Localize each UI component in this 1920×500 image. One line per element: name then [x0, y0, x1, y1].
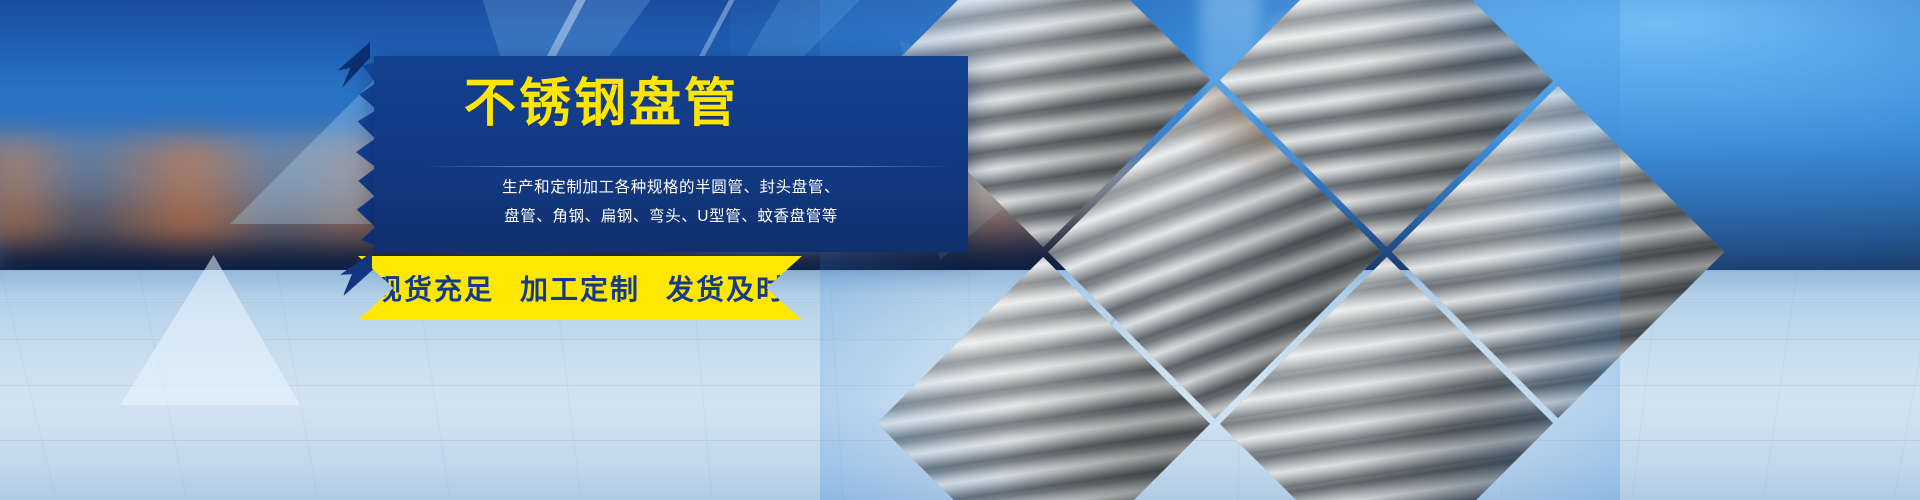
slogan-text-group: 现货充足 加工定制 发货及时: [358, 256, 802, 320]
subtitle-line-2: 盘管、角钢、扁钢、弯头、U型管、蚊香盘管等: [392, 203, 950, 232]
promo-banner: 不锈钢盘管 生产和定制加工各种规格的半圆管、封头盘管、 盘管、角钢、扁钢、弯头、…: [0, 0, 1920, 500]
headline-panel: 不锈钢盘管 生产和定制加工各种规格的半圆管、封头盘管、 盘管、角钢、扁钢、弯头、…: [356, 56, 968, 252]
panel-divider: [422, 166, 952, 167]
subtitle-block: 生产和定制加工各种规格的半圆管、封头盘管、 盘管、角钢、扁钢、弯头、U型管、蚊香…: [392, 174, 950, 231]
panel-body: 不锈钢盘管 生产和定制加工各种规格的半圆管、封头盘管、 盘管、角钢、扁钢、弯头、…: [374, 56, 968, 252]
slogan-ribbon: 现货充足 加工定制 发货及时: [358, 256, 802, 320]
slogan-item-2: 加工定制: [520, 268, 640, 308]
subtitle-line-1: 生产和定制加工各种规格的半圆管、封头盘管、: [392, 174, 950, 203]
page-title: 不锈钢盘管: [464, 78, 739, 130]
